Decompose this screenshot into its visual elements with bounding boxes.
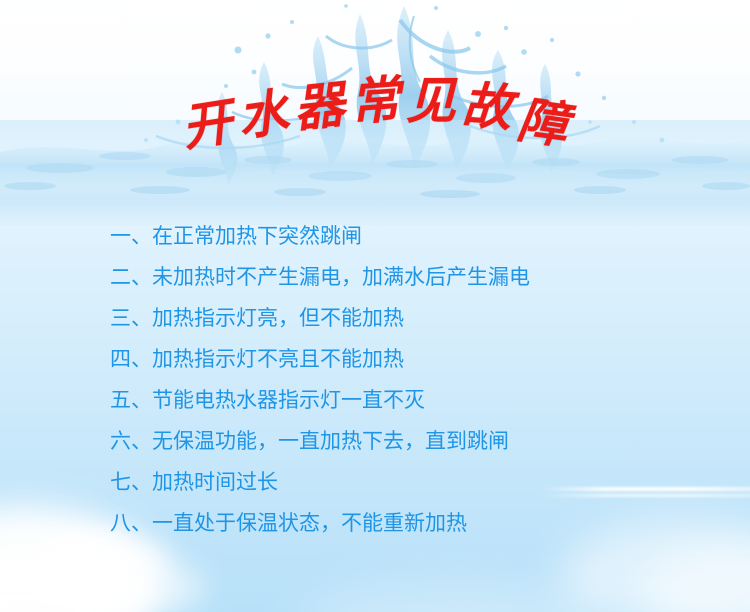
fault-list-item: 四、加热指示灯不亮且不能加热	[110, 349, 710, 390]
cloud-graphic	[95, 560, 205, 612]
fault-list-item: 八、一直处于保温状态，不能重新加热	[110, 513, 710, 554]
title-char: 障	[515, 95, 571, 151]
fault-list-item: 七、加热时间过长	[110, 472, 710, 513]
title-char: 见	[406, 76, 456, 126]
cloud-graphic	[640, 545, 750, 612]
cloud-graphic	[0, 545, 160, 612]
fault-list-item: 五、节能电热水器指示灯一直不灭	[110, 390, 710, 431]
cloud-graphic	[300, 585, 620, 612]
title-char: 故	[460, 80, 513, 133]
fault-list-item: 六、无保温功能，一直加热下去，直到跳闸	[110, 431, 710, 472]
title-char: 器	[292, 80, 347, 135]
title-char: 水	[235, 87, 291, 143]
fault-list: 一、在正常加热下突然跳闸 二、未加热时不产生漏电，加满水后产生漏电 三、加热指示…	[110, 226, 710, 554]
cloud-graphic	[0, 560, 140, 612]
fault-list-item: 二、未加热时不产生漏电，加满水后产生漏电	[110, 267, 710, 308]
title-char: 开	[178, 96, 235, 153]
title-char: 常	[348, 74, 401, 127]
poster-canvas: 开水器常见故障 一、在正常加热下突然跳闸 二、未加热时不产生漏电，加满水后产生漏…	[0, 0, 750, 612]
fault-list-item: 一、在正常加热下突然跳闸	[110, 226, 710, 267]
fault-list-item: 三、加热指示灯亮，但不能加热	[110, 308, 710, 349]
page-title: 开水器常见故障	[0, 78, 750, 158]
